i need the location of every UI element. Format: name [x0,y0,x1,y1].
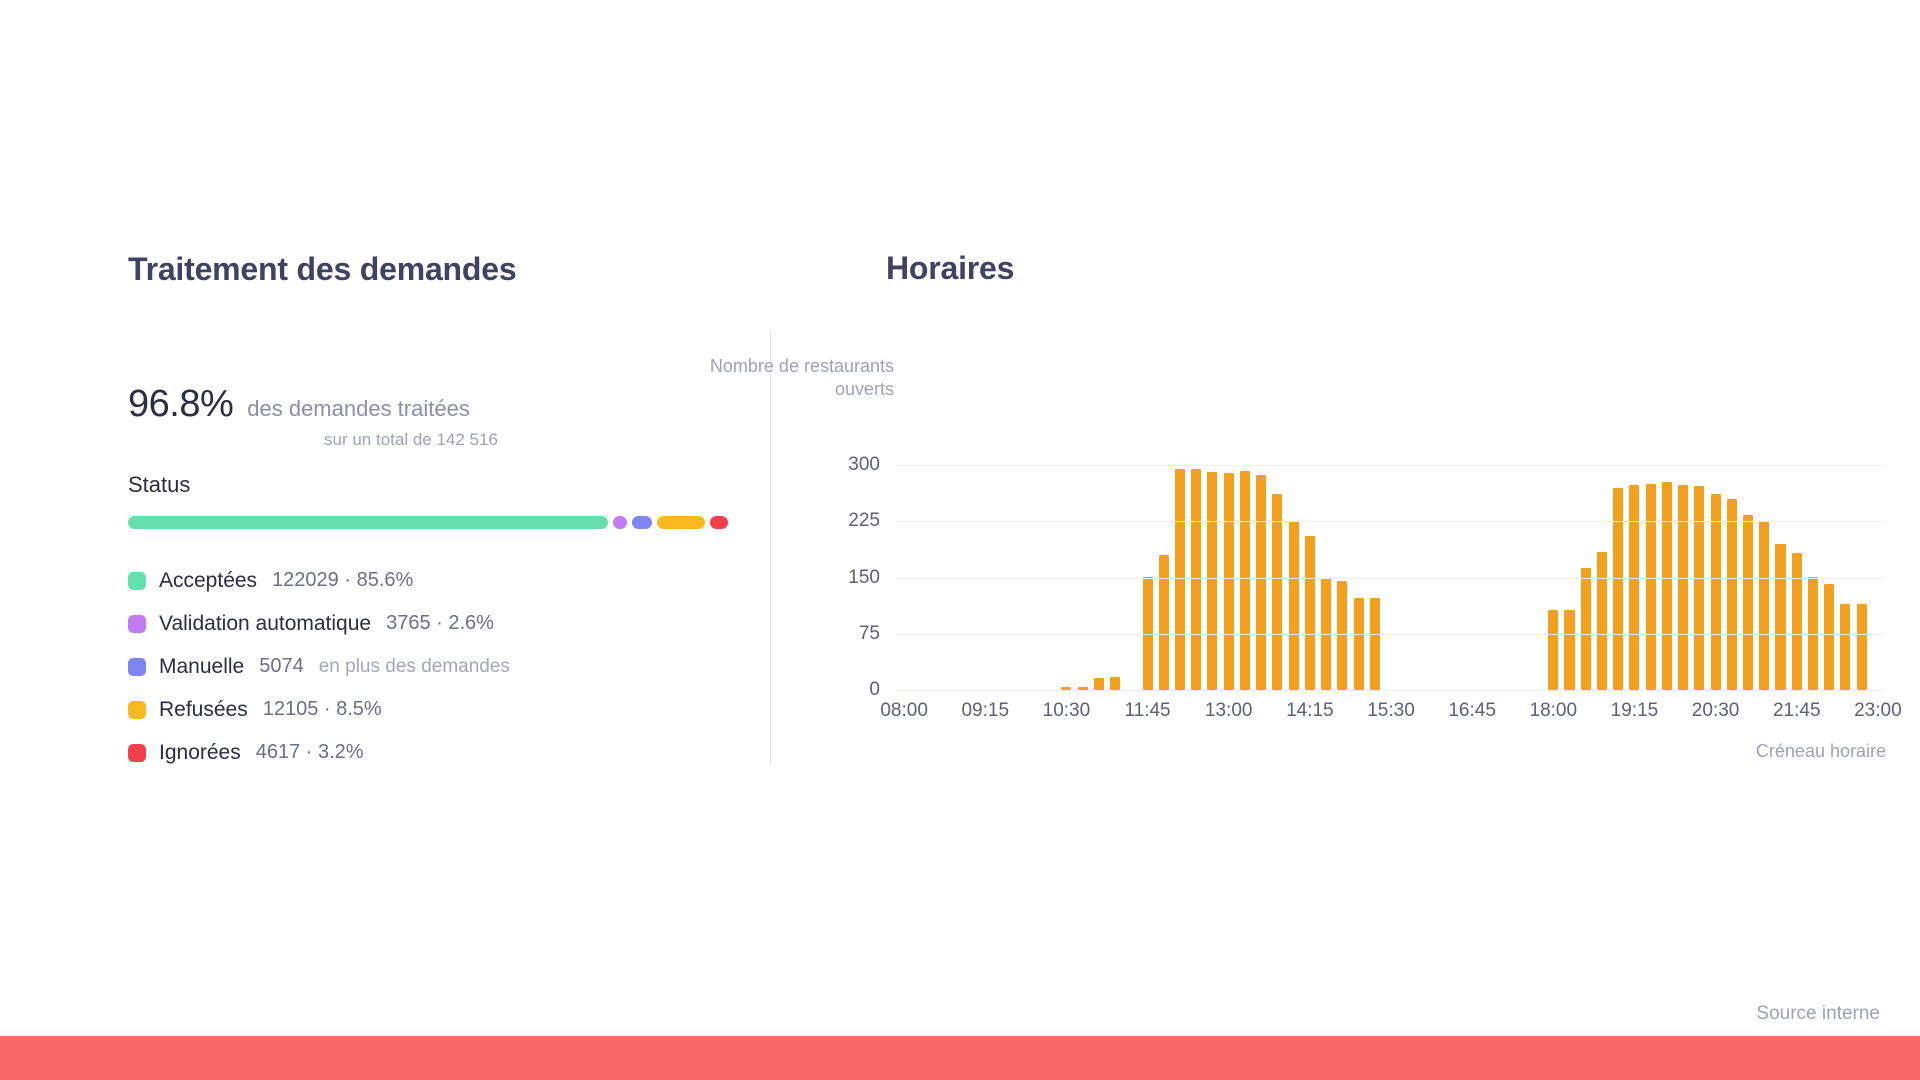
legend-stat: 4617 · 3.2% [256,741,364,764]
status-segment-ignor-es[interactable] [710,516,728,529]
legend-item[interactable]: Refusées12105 · 8.5% [128,688,758,731]
chart-bar[interactable] [1289,521,1299,690]
chart-bar[interactable] [1711,494,1721,691]
status-label: Status [128,472,758,498]
legend-swatch-icon [128,572,146,590]
x-axis-tick-label: 10:30 [1043,700,1091,722]
legend-stat: 5074 [259,655,304,678]
source-note: Source interne [1756,1003,1880,1025]
legend-stat: 122029 · 85.6% [272,569,413,592]
gridline [896,578,1886,579]
x-axis-tick-label: 20:30 [1692,700,1740,722]
x-axis-tick-label: 14:15 [1286,700,1334,722]
legend-label: Ignorées [159,741,241,765]
status-segment-refus-es[interactable] [657,516,705,529]
x-axis-tick-label: 13:00 [1205,700,1253,722]
gridline [896,521,1886,522]
x-axis-tick-label: 21:45 [1773,700,1821,722]
chart-bar[interactable] [1564,610,1574,690]
chart-bar[interactable] [1646,484,1656,690]
kpi-line: 96.8% des demandes traitées [128,383,758,426]
chart-bar[interactable] [1694,486,1704,690]
legend-label: Refusées [159,698,248,722]
x-axis-tick-label: 09:15 [961,700,1009,722]
y-axis-title: Nombre de restaurants ouverts [704,355,894,401]
legend-item[interactable]: Manuelle5074en plus des demandes [128,645,758,688]
chart-bar[interactable] [1840,604,1850,690]
kpi-block: 96.8% des demandes traitées sur un total… [128,383,758,450]
footer-bar [0,1036,1920,1080]
chart-bar[interactable] [1662,482,1672,690]
chart-bar[interactable] [1775,544,1785,690]
chart-bar[interactable] [1305,536,1315,690]
chart-bar[interactable] [1256,475,1266,690]
legend-stat: 12105 · 8.5% [263,698,382,721]
x-axis-tick-label: 19:15 [1611,700,1659,722]
status-legend: Acceptées122029 · 85.6%Validation automa… [128,559,758,774]
x-axis-tick-label: 23:00 [1854,700,1902,722]
chart-bar[interactable] [1337,581,1347,690]
chart-bar[interactable] [1597,552,1607,690]
chart-bar[interactable] [1824,584,1834,691]
legend-label: Validation automatique [159,612,371,636]
chart-bar[interactable] [1727,499,1737,690]
legend-stat: 3765 · 2.6% [386,612,494,635]
chart-bar[interactable] [1224,473,1234,691]
status-segment-validation-automatique[interactable] [613,516,628,529]
chart-bar[interactable] [1759,521,1769,690]
legend-swatch-icon [128,701,146,719]
chart-bar[interactable] [1094,678,1104,690]
kpi-caption: des demandes traitées [247,396,470,422]
dashboard-page: Traitement des demandes 96.8% des demand… [0,0,1920,1080]
legend-swatch-icon [128,615,146,633]
chart-bar[interactable] [1207,472,1217,690]
legend-item[interactable]: Ignorées4617 · 3.2% [128,731,758,774]
kpi-value: 96.8% [128,383,233,426]
hours-panel: Horaires Nombre de restaurants ouverts 0… [886,250,1896,287]
chart-bar[interactable] [1175,469,1185,690]
gridline [896,465,1886,466]
x-axis-tick-label: 11:45 [1124,700,1170,722]
gridline [896,690,1886,691]
kpi-subtitle: sur un total de 142 516 [128,430,758,450]
status-segment-manuelle[interactable] [632,516,652,529]
page-title: Traitement des demandes [128,250,758,288]
legend-item[interactable]: Acceptées122029 · 85.6% [128,559,758,602]
chart-bar[interactable] [1370,598,1380,690]
chart-bar[interactable] [1110,677,1120,690]
chart-bar[interactable] [1272,494,1282,691]
chart-bar[interactable] [1613,488,1623,691]
chart-bar[interactable] [1354,598,1364,690]
x-axis-tick-label: 16:45 [1448,700,1496,722]
y-axis-tick-label: 150 [848,567,880,589]
y-axis-tick-label: 75 [859,623,880,645]
chart-bar[interactable] [1159,555,1169,690]
x-axis-tick-label: 15:30 [1367,700,1415,722]
x-axis-tick-label: 08:00 [880,700,928,722]
y-axis-tick-label: 300 [848,454,880,476]
chart-bar[interactable] [1743,515,1753,691]
status-progress-bar[interactable] [128,516,728,529]
legend-item[interactable]: Validation automatique3765 · 2.6% [128,602,758,645]
chart-bar[interactable] [1581,568,1591,690]
chart-bar[interactable] [1792,553,1802,690]
legend-swatch-icon [128,658,146,676]
x-axis-ticks: 08:0009:1510:3011:4513:0014:1515:3016:45… [896,700,1886,730]
requests-panel: Traitement des demandes 96.8% des demand… [128,250,758,774]
y-axis-tick-label: 225 [848,510,880,532]
chart-bar[interactable] [1629,485,1639,690]
legend-label: Acceptées [159,569,257,593]
chart-bar[interactable] [1240,471,1250,690]
status-segment-accept-es[interactable] [128,516,608,529]
x-axis-title: Créneau horaire [1736,740,1886,763]
chart-area: Nombre de restaurants ouverts 0751502253… [796,355,1886,745]
legend-label: Manuelle [159,655,244,679]
chart-bar[interactable] [1191,469,1201,690]
chart-title: Horaires [886,250,1896,287]
chart-bar[interactable] [1678,485,1688,691]
x-axis-tick-label: 18:00 [1530,700,1578,722]
chart-bar[interactable] [1548,610,1558,690]
chart-bar[interactable] [1857,604,1867,690]
legend-swatch-icon [128,744,146,762]
legend-note: en plus des demandes [319,656,510,678]
y-axis-tick-label: 0 [869,679,880,701]
chart-plot: 075150225300 [896,465,1886,690]
gridline [896,634,1886,635]
